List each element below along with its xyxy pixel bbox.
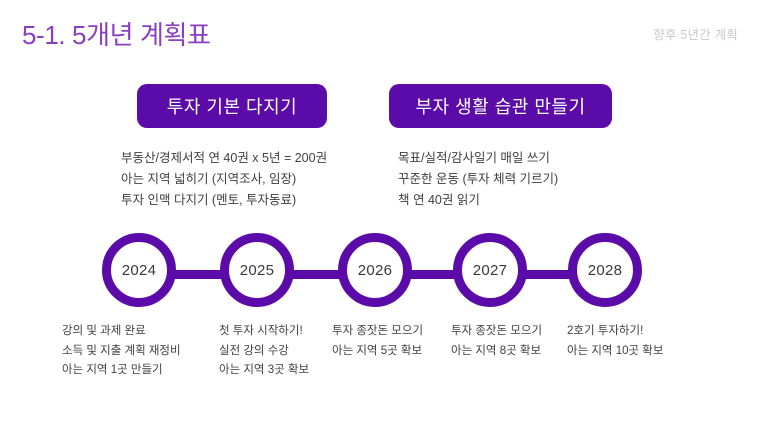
timeline-node-year: 2024 (122, 262, 157, 279)
caption-line: 아는 지역 5곳 확보 (332, 342, 423, 362)
timeline-caption-2024: 강의 및 과제 완료소득 및 지출 계획 재정비아는 지역 1곳 만들기 (62, 322, 181, 381)
timeline-caption-2026: 투자 종잣돈 모으기아는 지역 5곳 확보 (332, 322, 423, 361)
timeline-caption-2027: 투자 종잣돈 모으기아는 지역 8곳 확보 (451, 322, 542, 361)
timeline-node-year: 2026 (358, 262, 393, 279)
bullet-line: 아는 지역 넓히기 (지역조사, 임장) (121, 169, 327, 190)
section-badge-investment-basics: 투자 기본 다지기 (137, 84, 327, 128)
caption-line: 투자 종잣돈 모으기 (332, 322, 423, 342)
caption-line: 강의 및 과제 완료 (62, 322, 181, 342)
caption-line: 실전 강의 수강 (219, 342, 309, 362)
bullet-line: 부동산/경제서적 연 40권 x 5년 = 200권 (121, 148, 327, 169)
timeline-caption-2025: 첫 투자 시작하기!실전 강의 수강아는 지역 3곳 확보 (219, 322, 309, 381)
section-badge-rich-habits: 부자 생활 습관 만들기 (389, 84, 612, 128)
timeline-node-2024[interactable]: 2024 (102, 233, 176, 307)
caption-line: 아는 지역 1곳 만들기 (62, 361, 181, 381)
caption-line: 2호기 투자하기! (567, 322, 663, 342)
timeline-node-2028[interactable]: 2028 (568, 233, 642, 307)
bullet-line: 목표/실적/감사일기 매일 쓰기 (398, 148, 558, 169)
bullet-line: 책 연 40권 읽기 (398, 190, 558, 211)
bullet-line: 꾸준한 운동 (투자 체력 기르기) (398, 169, 558, 190)
header-note: 향후 5년간 계획 (653, 24, 738, 43)
timeline-node-2025[interactable]: 2025 (220, 233, 294, 307)
timeline-node-2027[interactable]: 2027 (453, 233, 527, 307)
timeline-caption-2028: 2호기 투자하기!아는 지역 10곳 확보 (567, 322, 663, 361)
caption-line: 아는 지역 10곳 확보 (567, 342, 663, 362)
caption-line: 소득 및 지출 계획 재정비 (62, 342, 181, 362)
timeline-node-year: 2025 (240, 262, 275, 279)
bullet-line: 투자 인맥 다지기 (멘토, 투자동료) (121, 190, 327, 211)
timeline-node-2026[interactable]: 2026 (338, 233, 412, 307)
caption-line: 첫 투자 시작하기! (219, 322, 309, 342)
caption-line: 아는 지역 3곳 확보 (219, 361, 309, 381)
section-bullets-investment-basics: 부동산/경제서적 연 40권 x 5년 = 200권아는 지역 넓히기 (지역조… (121, 148, 327, 211)
timeline: 20242025202620272028 (0, 225, 760, 325)
timeline-node-year: 2027 (473, 262, 508, 279)
timeline-node-year: 2028 (588, 262, 623, 279)
slide-canvas: 5-1. 5개년 계획표 향후 5년간 계획 투자 기본 다지기 부자 생활 습… (0, 0, 760, 428)
section-bullets-rich-habits: 목표/실적/감사일기 매일 쓰기꾸준한 운동 (투자 체력 기르기)책 연 40… (398, 148, 558, 211)
page-title: 5-1. 5개년 계획표 (22, 15, 211, 52)
caption-line: 아는 지역 8곳 확보 (451, 342, 542, 362)
caption-line: 투자 종잣돈 모으기 (451, 322, 542, 342)
